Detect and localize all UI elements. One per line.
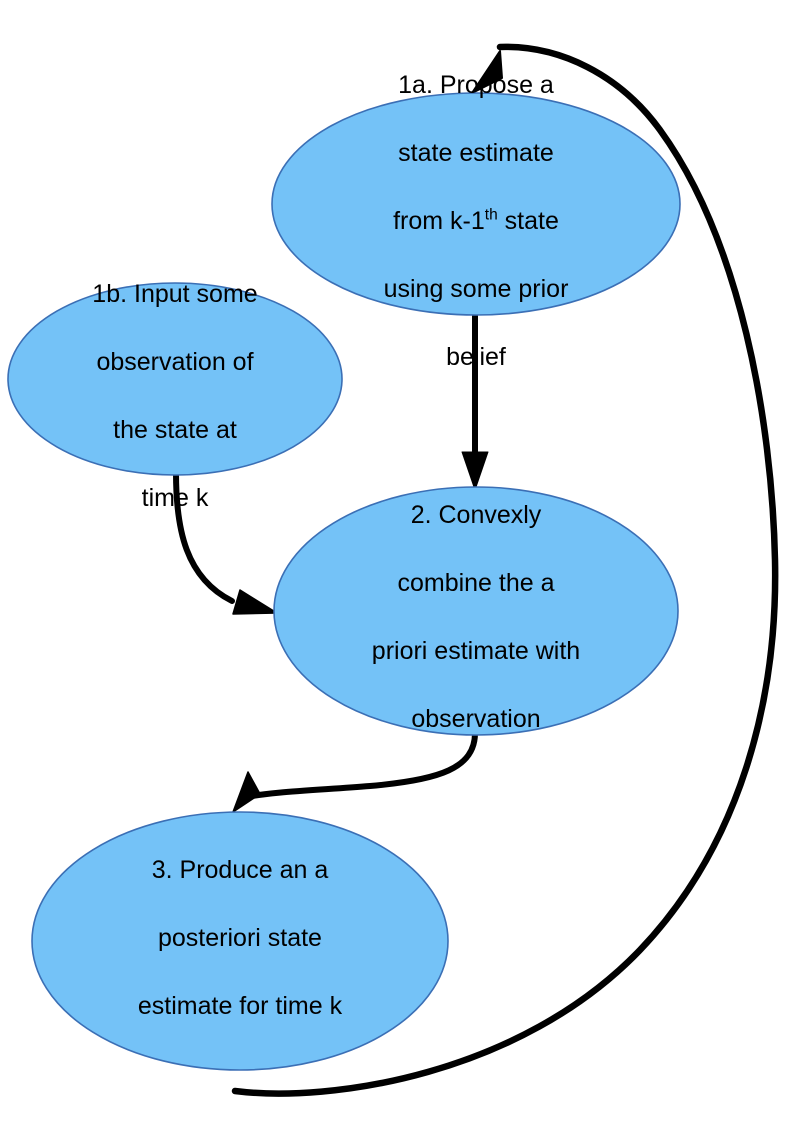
edge-2-to-3-path [248, 733, 475, 797]
node-1a-ellipse[interactable] [272, 93, 680, 315]
edge-2-to-3 [233, 733, 475, 812]
edge-1b-to-2-path [176, 473, 232, 601]
edge-2-to-3-arrowhead [233, 772, 260, 812]
edge-1a-to-2 [462, 315, 488, 490]
flowchart-diagram: 1a. Propose a state estimate from k-1th … [0, 0, 794, 1123]
edge-1a-to-2-arrowhead [462, 452, 488, 490]
edge-1b-to-2 [176, 473, 277, 614]
flowchart-canvas [0, 0, 794, 1123]
node-2-ellipse[interactable] [274, 487, 678, 735]
edge-1b-to-2-arrowhead [233, 590, 277, 614]
feedback-loop-arrowhead [472, 51, 502, 93]
node-1b-ellipse[interactable] [8, 283, 342, 475]
node-3-ellipse[interactable] [32, 812, 448, 1070]
